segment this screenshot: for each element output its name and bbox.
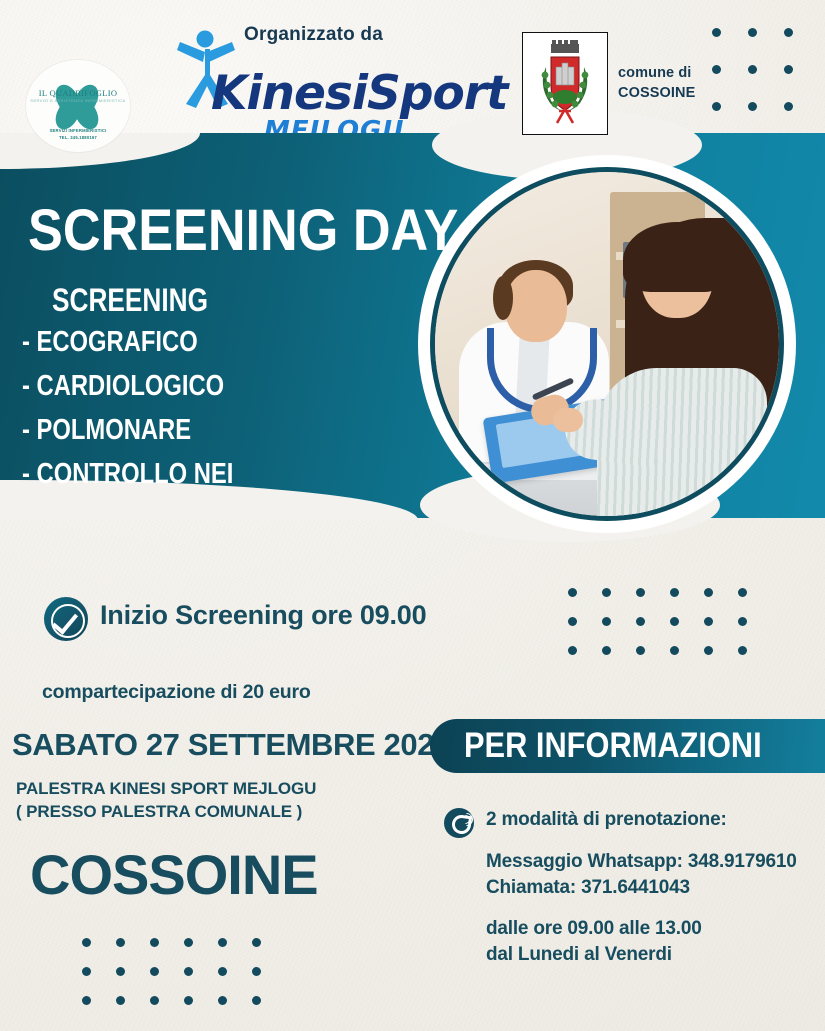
service-item: - POLMONARE	[22, 416, 233, 445]
photo-doctor-head	[505, 270, 567, 342]
municipality-label: comune di COSSOINE	[618, 64, 695, 103]
contact-numbers: Messaggio Whatsapp: 348.9179610 Chiamata…	[486, 849, 797, 900]
check-badge-icon	[44, 597, 88, 641]
quadrifoglio-footer-line2: TEL. 345.1880167	[26, 135, 130, 141]
info-heading-banner: PER INFORMAZIONI	[430, 719, 825, 773]
dot-grid-middle-right	[568, 588, 748, 668]
venue-line2: ( PRESSO PALESTRA COMUNALE )	[16, 801, 316, 824]
hours-line1: dalle ore 09.00 alle 13.00	[486, 916, 702, 942]
poster-header: IL QUADRIFOGLIO SERVIZI E ASSISTENZA INF…	[0, 0, 825, 142]
photo-patient-hand	[553, 408, 583, 432]
quadrifoglio-name: IL QUADRIFOGLIO	[26, 88, 130, 98]
fee-text: compartecipazione di 20 euro	[42, 681, 311, 704]
phone-number: Chiamata: 371.6441043	[486, 875, 797, 901]
quadrifoglio-logo: IL QUADRIFOGLIO SERVIZI E ASSISTENZA INF…	[26, 60, 130, 152]
booking-modes-label: 2 modalità di prenotazione:	[486, 809, 727, 831]
dot-grid-top-right	[712, 28, 802, 112]
hero-photo-inner-ring	[430, 167, 784, 521]
services-list: - ECOGRAFICO - CARDIOLOGICO - POLMONARE …	[22, 328, 280, 504]
kinesisport-logo: KinesiSport MEILOGU	[174, 30, 474, 130]
service-item: - CONTROLLO NEI	[22, 460, 233, 489]
whatsapp-number: Messaggio Whatsapp: 348.9179610	[486, 849, 797, 875]
photo-doctor-hair-side	[493, 276, 513, 320]
service-item: - CARDIOLOGICO	[22, 372, 233, 401]
start-time-text: Inizio Screening ore 09.00	[100, 600, 426, 631]
municipality-line1: comune di	[618, 64, 695, 84]
kinesisport-wordmark: KinesiSport	[211, 70, 507, 117]
venue-line1: PALESTRA KINESI SPORT MEJLOGU	[16, 778, 316, 801]
hero-photo	[435, 172, 779, 516]
info-heading-text: PER INFORMAZIONI	[464, 726, 762, 766]
coat-of-arms-icon	[523, 33, 607, 134]
banner-subtitle: SCREENING	[52, 284, 208, 316]
dot-grid-bottom-left	[82, 938, 262, 1018]
quadrifoglio-subtitle: SERVIZI E ASSISTENZA INFERMIERISTICA	[26, 98, 130, 103]
city-name: COSSOINE	[30, 842, 318, 907]
poster-canvas: IL QUADRIFOGLIO SERVIZI E ASSISTENZA INF…	[0, 0, 825, 1031]
photo-patient-hair-front	[623, 222, 723, 292]
kinesisport-inesi: inesi	[246, 66, 367, 121]
hours-line2: dal Lunedi al Venerdi	[486, 942, 702, 968]
kinesisport-port: port	[400, 66, 508, 121]
cossoine-coat-of-arms	[522, 32, 608, 135]
hero-photo-frame	[418, 155, 796, 533]
phone-icon	[444, 808, 474, 838]
event-date: SABATO 27 SETTEMBRE 2025	[12, 727, 451, 763]
municipality-line2: COSSOINE	[618, 84, 695, 104]
kinesisport-k: K	[211, 66, 246, 121]
opening-hours: dalle ore 09.00 alle 13.00 dal Lunedi al…	[486, 916, 702, 967]
kinesisport-s: S	[367, 66, 400, 121]
service-item: - ECOGRAFICO	[22, 328, 233, 357]
page-title: SCREENING DAY	[28, 202, 458, 260]
quadrifoglio-footer: SERVIZI INFERMIERISTICI TEL. 345.1880167	[26, 128, 130, 141]
venue-address: PALESTRA KINESI SPORT MEJLOGU ( PRESSO P…	[16, 778, 316, 824]
